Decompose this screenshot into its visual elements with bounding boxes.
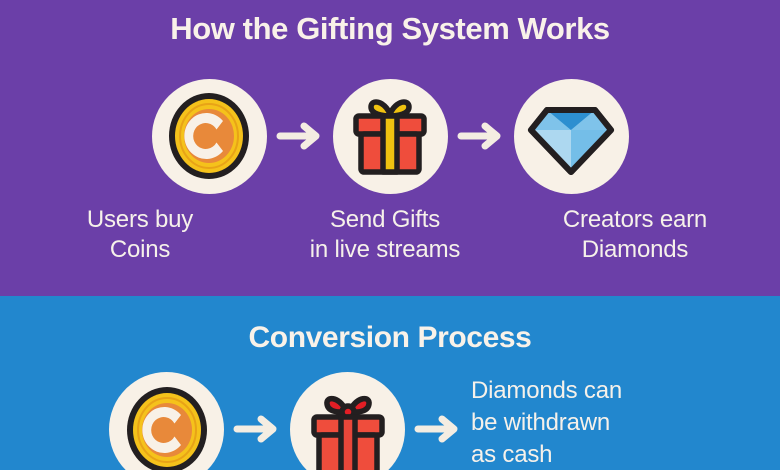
gift-icon <box>302 384 394 470</box>
gifting-step-coins <box>152 79 267 194</box>
caption-creators-earn-diamonds: Creators earn Diamonds <box>530 205 740 265</box>
gifting-step-gifts <box>333 79 448 194</box>
gifting-system-infographic: How the Gifting System Works <box>0 0 780 470</box>
arrow-right-icon-2 <box>448 119 514 153</box>
coin-icon-badge-bottom <box>109 372 224 470</box>
conversion-section-title: Conversion Process <box>0 320 780 355</box>
gift-icon-badge-bottom <box>290 372 405 470</box>
conversion-step-coins <box>109 372 224 470</box>
conversion-flow-row: Diamonds can be withdrawn as cash <box>0 372 780 470</box>
gifting-flow-row <box>0 78 780 194</box>
gifting-step-diamonds <box>514 79 629 194</box>
gift-icon-badge <box>333 79 448 194</box>
diamond-icon-badge <box>514 79 629 194</box>
conversion-step-gifts <box>290 372 405 470</box>
arrow-right-icon-3 <box>224 372 290 446</box>
section-gifting-system: How the Gifting System Works <box>0 0 780 296</box>
coin-icon <box>121 384 213 470</box>
gifting-section-title: How the Gifting System Works <box>0 11 780 47</box>
coin-icon-badge <box>152 79 267 194</box>
caption-send-gifts: Send Gifts in live streams <box>275 205 495 265</box>
diamond-icon <box>525 90 617 182</box>
arrow-right-icon-4 <box>405 372 471 446</box>
gift-icon <box>344 90 436 182</box>
arrow-right-icon-1 <box>267 119 333 153</box>
coin-icon <box>163 90 255 182</box>
caption-users-buy-coins: Users buy Coins <box>40 205 240 265</box>
section-conversion-process: Conversion Process <box>0 296 780 470</box>
caption-diamonds-withdrawn-as-cash: Diamonds can be withdrawn as cash <box>471 372 671 470</box>
